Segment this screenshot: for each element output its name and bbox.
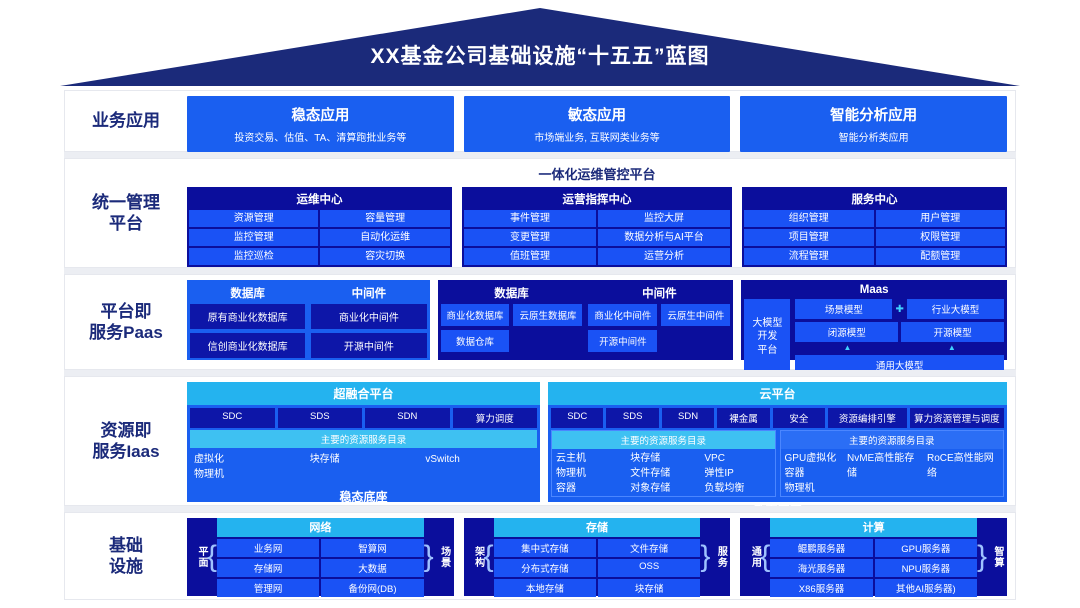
maas-industry-model[interactable]: 行业大模型 — [907, 299, 1004, 319]
brace-left-icon: { — [760, 546, 770, 569]
infra-item[interactable]: 业务网 — [217, 539, 319, 557]
plus-icon: ✚ — [895, 304, 903, 315]
cloud-general-catalog: 主要的资源服务目录 云主机 物理机 容器 块存储 文件存储 — [551, 430, 775, 497]
row-iaas: 资源即 服务Iaas 超融合平台 SDC SDS SDN 算力调度 主要的资源服… — [64, 376, 1016, 506]
brace-left-icon: { — [484, 546, 494, 569]
cloud-service-column: 块存储 文件存储 对象存储 — [626, 449, 700, 496]
infra-title: 存储 — [494, 518, 701, 537]
center-ops[interactable]: 运维中心 资源管理 容量管理 监控管理 自动化运维 监控巡检 容灾切换 — [187, 187, 452, 267]
row-business-apps: 业务应用 稳态应用 投资交易、估值、TA、清算跑批业务等 敏态应用 市场端业务,… — [64, 90, 1016, 152]
paas-column-head: 中间件 — [311, 283, 426, 304]
infra-item[interactable]: 分布式存储 — [494, 559, 596, 577]
infra-item[interactable]: 其他AI服务器) — [875, 579, 977, 597]
paas-column-head: 数据库 — [441, 283, 583, 304]
app-card-title: 稳态应用 — [291, 104, 349, 125]
paas-item[interactable]: 原有商业化数据库 — [190, 304, 305, 329]
paas-maas-block: Maas 大模型 开发 平台 场景模型 ✚ 行业大模型 闭源模型 开源模型 — [741, 280, 1007, 360]
cloud-capability[interactable]: 裸金属 — [717, 408, 769, 428]
brace-right-icon: } — [977, 546, 987, 569]
paas-cloudnative-block: 数据库 商业化数据库 云原生数据库 数据仓库 中间件 商业化 — [438, 280, 734, 360]
app-card-agile[interactable]: 敏态应用 市场端业务, 互联网类业务等 — [464, 96, 731, 152]
center-item[interactable]: 监控巡检 — [189, 248, 318, 265]
center-item[interactable]: 配额管理 — [876, 248, 1005, 265]
center-item[interactable]: 监控管理 — [189, 229, 318, 246]
infra-item[interactable]: 大数据 — [321, 559, 423, 577]
paas-db-column-cloud: 数据库 商业化数据库 云原生数据库 数据仓库 — [441, 283, 583, 357]
paas-item[interactable]: 云原生数据库 — [513, 304, 582, 326]
service-item: NvME高性能存储 — [847, 451, 923, 481]
maas-dev-platform[interactable]: 大模型 开发 平台 — [744, 299, 790, 375]
infra-left-label: 平面 — [191, 546, 207, 568]
center-item[interactable]: 自动化运维 — [320, 229, 449, 246]
maas-open-model[interactable]: 开源模型 — [901, 322, 1004, 342]
roof-banner: XX基金公司基础设施“十五五”蓝图 — [0, 0, 1080, 86]
cloud-catalog-title: 主要的资源服务目录 — [781, 431, 1003, 449]
cloud-capability[interactable]: 安全 — [773, 408, 825, 428]
center-item[interactable]: 用户管理 — [876, 210, 1005, 227]
center-item[interactable]: 组织管理 — [744, 210, 873, 227]
infra-card-network: 平面 { 网络 业务网 智算网 存储网 大数据 管理网 备份网(DB) — [187, 518, 454, 596]
cloud-capability[interactable]: 资源编排引擎 — [828, 408, 907, 428]
center-item[interactable]: 流程管理 — [744, 248, 873, 265]
cloud-capability[interactable]: 算力资源管理与调度 — [910, 408, 1004, 428]
service-item: 容器 — [785, 466, 843, 481]
cloud-ai-service-column: NvME高性能存储 — [843, 449, 923, 496]
infra-right-label: 智算 — [987, 546, 1003, 568]
maas-closed-model[interactable]: 闭源模型 — [795, 322, 898, 342]
hci-platform-block: 超融合平台 SDC SDS SDN 算力调度 主要的资源服务目录 虚拟化 物理机 — [187, 382, 540, 502]
center-item[interactable]: 容量管理 — [320, 210, 449, 227]
paas-traditional-block: 数据库 原有商业化数据库 信创商业化数据库 中间件 商业化中间件 开源中间件 — [187, 280, 430, 360]
center-title: 运营指挥中心 — [464, 189, 730, 210]
infra-item[interactable]: 智算网 — [321, 539, 423, 557]
infra-item[interactable]: X86服务器 — [770, 579, 872, 597]
paas-item[interactable]: 信创商业化数据库 — [190, 333, 305, 358]
row-label-business-apps: 业务应用 — [65, 110, 187, 131]
service-item: 弹性IP — [704, 466, 774, 481]
cloud-ai-service-column: GPU虚拟化 容器 物理机 — [781, 449, 843, 496]
maas-title: Maas — [744, 283, 1004, 299]
paas-item-empty — [661, 330, 730, 352]
center-item[interactable]: 项目管理 — [744, 229, 873, 246]
paas-item[interactable]: 商业化中间件 — [588, 304, 657, 326]
center-item[interactable]: 变更管理 — [464, 229, 596, 246]
center-item[interactable]: 监控大屏 — [598, 210, 730, 227]
service-item: GPU虚拟化 — [785, 451, 843, 466]
platform-title: 一体化运维管控平台 — [187, 164, 1007, 183]
app-card-stable[interactable]: 稳态应用 投资交易、估值、TA、清算跑批业务等 — [187, 96, 454, 152]
infra-item[interactable]: 本地存储 — [494, 579, 596, 597]
infra-title: 计算 — [770, 518, 977, 537]
service-item: 物理机 — [556, 466, 626, 481]
arrow-up-icon: ▲ — [948, 345, 956, 352]
infra-item[interactable]: OSS — [598, 559, 700, 577]
service-item: 容器 — [556, 481, 626, 496]
infra-card-compute: 通用 { 计算 鲲鹏服务器 GPU服务器 海光服务器 NPU服务器 X86服务器… — [740, 518, 1007, 596]
infra-card-storage: 架构 { 存储 集中式存储 文件存储 分布式存储 OSS 本地存储 块存储 — [464, 518, 731, 596]
center-title: 服务中心 — [744, 189, 1005, 210]
infra-item[interactable]: NPU服务器 — [875, 559, 977, 577]
service-item: 文件存储 — [630, 466, 700, 481]
paas-item[interactable]: 云原生中间件 — [661, 304, 730, 326]
paas-column-head: 数据库 — [190, 283, 305, 304]
app-card-subtitle: 市场端业务, 互联网类业务等 — [534, 129, 660, 144]
hci-service-column: 块存储 — [306, 450, 422, 482]
paas-middleware-column-cloud: 中间件 商业化中间件 云原生中间件 开源中间件 — [588, 283, 730, 357]
service-item: 块存储 — [630, 451, 700, 466]
center-item[interactable]: 事件管理 — [464, 210, 596, 227]
app-card-subtitle: 投资交易、估值、TA、清算跑批业务等 — [234, 129, 406, 144]
row-unified-management: 统一管理 平台 一体化运维管控平台 运维中心 资源管理 容量管理 监控管理 自动… — [64, 158, 1016, 268]
app-card-subtitle: 智能分析类应用 — [839, 129, 909, 144]
hci-capability[interactable]: 算力调度 — [453, 408, 538, 428]
infra-item[interactable]: GPU服务器 — [875, 539, 977, 557]
hci-service-column: vSwitch — [421, 450, 537, 482]
paas-item-empty — [513, 330, 582, 352]
row-label-paas: 平台即 服务Paas — [65, 301, 187, 344]
infra-item[interactable]: 存储网 — [217, 559, 319, 577]
service-item: 物理机 — [194, 467, 306, 482]
cloud-ai-catalog: 主要的资源服务目录 GPU虚拟化 容器 物理机 NvME高性能存储 — [780, 430, 1004, 497]
row-paas: 平台即 服务Paas 数据库 原有商业化数据库 信创商业化数据库 中间件 商业化… — [64, 274, 1016, 370]
service-item: 虚拟化 — [194, 452, 306, 467]
cloud-catalog-title: 主要的资源服务目录 — [552, 431, 774, 449]
paas-item[interactable]: 开源中间件 — [311, 333, 426, 358]
center-item[interactable]: 权限管理 — [876, 229, 1005, 246]
service-item: vSwitch — [425, 452, 537, 467]
infra-left-label: 架构 — [468, 546, 484, 568]
center-item[interactable]: 数据分析与AI平台 — [598, 229, 730, 246]
center-item[interactable]: 值班管理 — [464, 248, 596, 265]
center-item[interactable]: 资源管理 — [189, 210, 318, 227]
infra-right-label: 服务 — [710, 546, 726, 568]
infra-item[interactable]: 管理网 — [217, 579, 319, 597]
cloud-service-column: VPC 弹性IP 负载均衡 — [700, 449, 774, 496]
row-label-iaas: 资源即 服务Iaas — [65, 420, 187, 463]
cloud-title: 云平台 — [548, 382, 1007, 405]
hci-service-column: 虚拟化 物理机 — [190, 450, 306, 482]
business-app-cards: 稳态应用 投资交易、估值、TA、清算跑批业务等 敏态应用 市场端业务, 互联网类… — [187, 96, 1007, 152]
app-card-title: 敏态应用 — [568, 104, 626, 125]
cloud-capability[interactable]: SDC — [551, 408, 603, 428]
service-item: 块存储 — [310, 452, 422, 467]
hci-title: 超融合平台 — [187, 382, 540, 405]
brace-right-icon: } — [424, 546, 434, 569]
service-item: VPC — [704, 451, 774, 466]
row-label-infrastructure: 基础 设施 — [65, 535, 187, 578]
infra-item[interactable]: 文件存储 — [598, 539, 700, 557]
center-service[interactable]: 服务中心 组织管理 用户管理 项目管理 权限管理 流程管理 配额管理 — [742, 187, 1007, 267]
center-item[interactable]: 容灾切换 — [320, 248, 449, 265]
row-label-unified-management: 统一管理 平台 — [65, 192, 187, 235]
paas-item[interactable]: 数据仓库 — [441, 330, 510, 352]
hci-capability[interactable]: SDS — [278, 408, 363, 428]
management-centers: 运维中心 资源管理 容量管理 监控管理 自动化运维 监控巡检 容灾切换 运营指挥… — [187, 187, 1007, 267]
infra-item[interactable]: 备份网(DB) — [321, 579, 423, 597]
service-item: RoCE高性能网络 — [927, 451, 1003, 481]
hci-capability[interactable]: SDN — [365, 408, 450, 428]
service-item: 对象存储 — [630, 481, 700, 496]
center-operations-command[interactable]: 运营指挥中心 事件管理 监控大屏 变更管理 数据分析与AI平台 值班管理 运营分… — [462, 187, 732, 267]
hci-capability[interactable]: SDC — [190, 408, 275, 428]
blueprint-diagram: XX基金公司基础设施“十五五”蓝图 业务应用 稳态应用 投资交易、估值、TA、清… — [0, 0, 1080, 608]
infra-left-label: 通用 — [744, 546, 760, 568]
cloud-ai-service-column: RoCE高性能网络 — [923, 449, 1003, 496]
paas-column-head: 中间件 — [588, 283, 730, 304]
hci-catalog-title: 主要的资源服务目录 — [190, 430, 537, 448]
infra-right-label: 场景 — [434, 546, 450, 568]
app-card-analytics[interactable]: 智能分析应用 智能分析类应用 — [740, 96, 1007, 152]
cloud-service-column: 云主机 物理机 容器 — [552, 449, 626, 496]
infra-title: 网络 — [217, 518, 424, 537]
paas-middleware-column: 中间件 商业化中间件 开源中间件 — [311, 283, 426, 357]
paas-item[interactable]: 商业化中间件 — [311, 304, 426, 329]
center-title: 运维中心 — [189, 189, 450, 210]
infra-item[interactable]: 鲲鹏服务器 — [770, 539, 872, 557]
paas-item[interactable]: 商业化数据库 — [441, 304, 510, 326]
row-infrastructure: 基础 设施 平面 { 网络 业务网 智算网 存储网 大数据 管理网 备份网( — [64, 512, 1016, 600]
cloud-capability[interactable]: SDS — [606, 408, 658, 428]
arrow-up-icon: ▲ — [844, 345, 852, 352]
paas-item[interactable]: 开源中间件 — [588, 330, 657, 352]
service-item: 负载均衡 — [704, 481, 774, 496]
cloud-platform-block: 云平台 SDC SDS SDN 裸金属 安全 资源编排引擎 算力资源管理与调度 … — [548, 382, 1007, 502]
infra-item[interactable]: 海光服务器 — [770, 559, 872, 577]
cloud-capability[interactable]: SDN — [662, 408, 714, 428]
app-card-title: 智能分析应用 — [830, 104, 917, 125]
maas-scenario-model[interactable]: 场景模型 — [795, 299, 892, 319]
center-item[interactable]: 运营分析 — [598, 248, 730, 265]
paas-db-column: 数据库 原有商业化数据库 信创商业化数据库 — [190, 283, 305, 357]
infra-item[interactable]: 集中式存储 — [494, 539, 596, 557]
infra-item[interactable]: 块存储 — [598, 579, 700, 597]
service-item: 云主机 — [556, 451, 626, 466]
page-title: XX基金公司基础设施“十五五”蓝图 — [0, 40, 1080, 70]
brace-right-icon: } — [700, 546, 710, 569]
service-item: 物理机 — [785, 481, 843, 496]
brace-left-icon: { — [207, 546, 217, 569]
